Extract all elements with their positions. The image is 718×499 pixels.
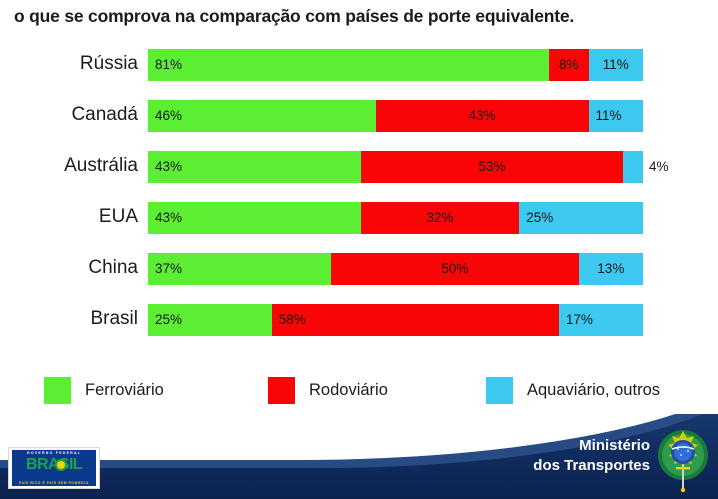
bar-segment: 25% [148,304,272,336]
legend-label: Rodoviário [309,381,388,400]
chart-row-label: EUA [0,198,138,236]
bar-segment-value: 43% [155,202,182,234]
chart-row-bar: 81%8%11% [148,49,643,81]
bar-segment-value: 11% [596,100,622,132]
bar-segment: 43% [148,202,361,234]
bar-segment: 37% [148,253,331,285]
chart-legend: FerroviárioRodoviárioAquaviário, outros [0,374,718,408]
chart-row-bar: 25%58%17% [148,304,643,336]
brasil-logo-wordmark: BRASIL [12,457,96,473]
bar-segment: 8% [549,49,589,81]
legend-item: Rodoviário [268,374,388,406]
chart-row: China37%50%13% [0,249,718,287]
bar-segment: 32% [361,202,519,234]
bar-segment-value: 8% [549,49,589,81]
bar-segment-value: 53% [361,151,623,183]
bar-segment-value: 37% [155,253,182,285]
bar-segment: 17% [559,304,643,336]
bar-segment-value: 11% [589,49,643,81]
chart-row-bar: 43%32%25% [148,202,643,234]
bar-segment: 4% [623,151,643,183]
bar-segment-value: 50% [331,253,579,285]
ministry-lockup: Ministério dos Transportes [533,436,650,476]
chart-row-label: Rússia [0,45,138,83]
brasil-logo-globe-icon [55,459,67,471]
chart-row-label: Canadá [0,96,138,134]
legend-swatch [486,377,513,404]
chart-row: Canadá46%43%11% [0,96,718,134]
legend-label: Ferroviário [85,381,164,400]
brasil-logo-bottom-text: PAÍS RICO É PAÍS SEM POBREZA [12,481,96,485]
bar-segment-value: 43% [376,100,589,132]
legend-swatch [268,377,295,404]
chart-row-label: China [0,249,138,287]
chart-row: EUA43%32%25% [0,198,718,236]
chart-row-bar: 43%53%4% [148,151,643,183]
slide-title: o que se comprova na comparação com país… [14,6,704,27]
brasil-logo-top-text: GOVERNO FEDERAL [12,451,96,455]
bar-segment: 11% [589,100,643,132]
chart-row-label: Brasil [0,300,138,338]
bar-segment-value: 13% [579,253,643,285]
chart-row-bar: 37%50%13% [148,253,643,285]
bar-segment: 81% [148,49,549,81]
bar-segment-value: 25% [526,202,553,234]
legend-swatch [44,377,71,404]
bar-segment-value: 4% [649,151,669,183]
ministry-line-1: Ministério [533,436,650,456]
legend-label: Aquaviário, outros [527,381,660,400]
bar-segment: 53% [361,151,623,183]
legend-item: Ferroviário [44,374,164,406]
brasil-logo-inner: GOVERNO FEDERAL BRASIL PAÍS RICO É PAÍS … [12,450,96,486]
chart-row: Brasil25%58%17% [0,300,718,338]
bar-segment-value: 46% [155,100,182,132]
bar-segment-value: 17% [566,304,593,336]
bar-segment-value: 81% [155,49,182,81]
bar-segment: 13% [579,253,643,285]
chart-row-bar: 46%43%11% [148,100,643,132]
bar-segment-value: 43% [155,151,182,183]
bar-segment: 11% [589,49,643,81]
bar-segment-value: 25% [155,304,182,336]
bar-segment: 58% [272,304,559,336]
chart-row: Rússia81%8%11% [0,45,718,83]
chart-row: Austrália43%53%4% [0,147,718,185]
legend-item: Aquaviário, outros [486,374,660,406]
ministry-line-2: dos Transportes [533,456,650,476]
slide-footer: GOVERNO FEDERAL BRASIL PAÍS RICO É PAÍS … [0,414,718,499]
bar-segment-value: 32% [361,202,519,234]
bar-segment-value: 58% [279,304,306,336]
stacked-bar-chart: Rússia81%8%11%Canadá46%43%11%Austrália43… [0,45,718,355]
bar-segment: 25% [519,202,643,234]
bar-segment: 50% [331,253,579,285]
bar-segment: 46% [148,100,376,132]
brasil-government-logo: GOVERNO FEDERAL BRASIL PAÍS RICO É PAÍS … [8,447,100,489]
chart-row-label: Austrália [0,147,138,185]
bar-segment: 43% [148,151,361,183]
brazil-coat-of-arms-icon [654,425,712,493]
bar-segment: 43% [376,100,589,132]
